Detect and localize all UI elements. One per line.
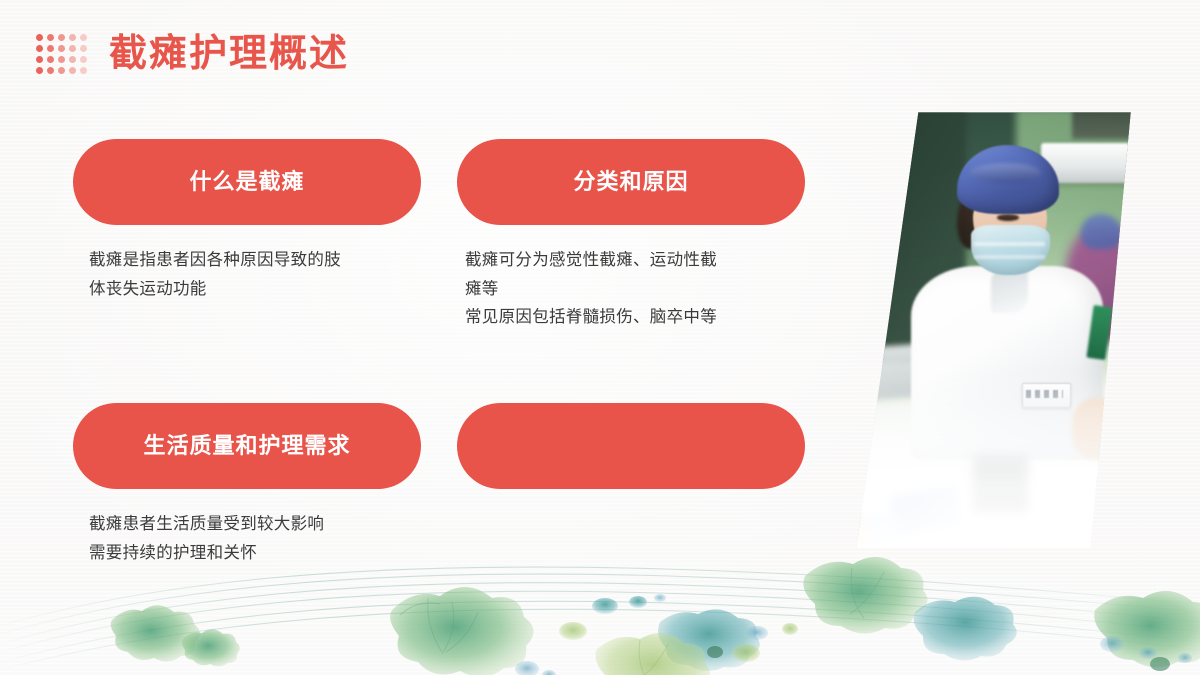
lotus-leaf-olive xyxy=(595,633,709,675)
card-body-1: 截瘫是指患者因各种原因导致的肢 体丧失运动功能 xyxy=(89,247,419,302)
card-body-3: 截瘫患者生活质量受到较大影响 需要持续的护理和关怀 xyxy=(89,511,419,566)
card-body-line: 需要持续的护理和关怀 xyxy=(89,540,419,567)
content-block-what-is-paraplegia: 什么是截瘫 截瘫是指患者因各种原因导致的肢 体丧失运动功能 xyxy=(73,139,421,302)
card-body-2: 截瘫可分为感觉性截瘫、运动性截 瘫等 常见原因包括脊髓损伤、脑卒中等 xyxy=(465,247,795,331)
content-block-quality-of-life-and-care-needs: 生活质量和护理需求 截瘫患者生活质量受到较大影响 需要持续的护理和关怀 xyxy=(73,403,421,566)
card-body-line: 截瘫患者生活质量受到较大影响 xyxy=(89,511,419,538)
lotus-leaf-big-center xyxy=(390,587,533,675)
card-heading-label-2: 分类和原因 xyxy=(573,168,688,196)
content-block-empty xyxy=(457,403,805,489)
card-heading-label-3: 生活质量和护理需求 xyxy=(143,432,350,460)
lotus-leaf-far-right xyxy=(1094,591,1200,675)
card-body-line: 常见原因包括脊髓损伤、脑卒中等 xyxy=(465,304,795,331)
slide-canvas: 截瘫护理概述 什么是截瘫 截瘫是指患者因各种原因导致的肢 体丧失运动功能 分类和… xyxy=(0,0,1200,675)
lotus-dot-cluster-right-inner xyxy=(707,623,798,662)
lotus-leaf-cluster-left xyxy=(111,605,240,666)
lotus-dot-cluster-center xyxy=(515,594,666,675)
slide-header: 截瘫护理概述 xyxy=(36,26,349,82)
card-body-line: 截瘫是指患者因各种原因导致的肢 xyxy=(89,247,419,274)
content-block-classification-and-causes: 分类和原因 截瘫可分为感觉性截瘫、运动性截 瘫等 常见原因包括脊髓损伤、脑卒中等 xyxy=(457,139,805,331)
card-heading-pill-4[interactable] xyxy=(457,403,805,489)
card-heading-pill-3[interactable]: 生活质量和护理需求 xyxy=(73,403,421,489)
card-heading-pill-1[interactable]: 什么是截瘫 xyxy=(73,139,421,225)
deco-line-strokes xyxy=(0,567,1200,675)
nurse-photo-alt: 身穿白色护士服、戴蓝色手术帽和口罩的护士在病房内工作 xyxy=(830,108,831,109)
nurse-photo: 身穿白色护士服、戴蓝色手术帽和口罩的护士在病房内工作 xyxy=(830,108,1140,548)
card-body-line: 截瘫可分为感觉性截瘫、运动性截 xyxy=(465,247,795,274)
card-heading-pill-2[interactable]: 分类和原因 xyxy=(457,139,805,225)
card-heading-label-1: 什么是截瘫 xyxy=(189,168,304,196)
lotus-leaf-teal xyxy=(658,609,760,671)
dot-grid-icon xyxy=(36,34,91,78)
card-body-line: 体丧失运动功能 xyxy=(89,276,419,303)
card-body-line: 瘫等 xyxy=(465,276,795,303)
nurse-photo-image xyxy=(830,108,1140,548)
page-title: 截瘫护理概述 xyxy=(109,35,349,73)
lotus-leaf-upper-right xyxy=(803,557,1016,661)
